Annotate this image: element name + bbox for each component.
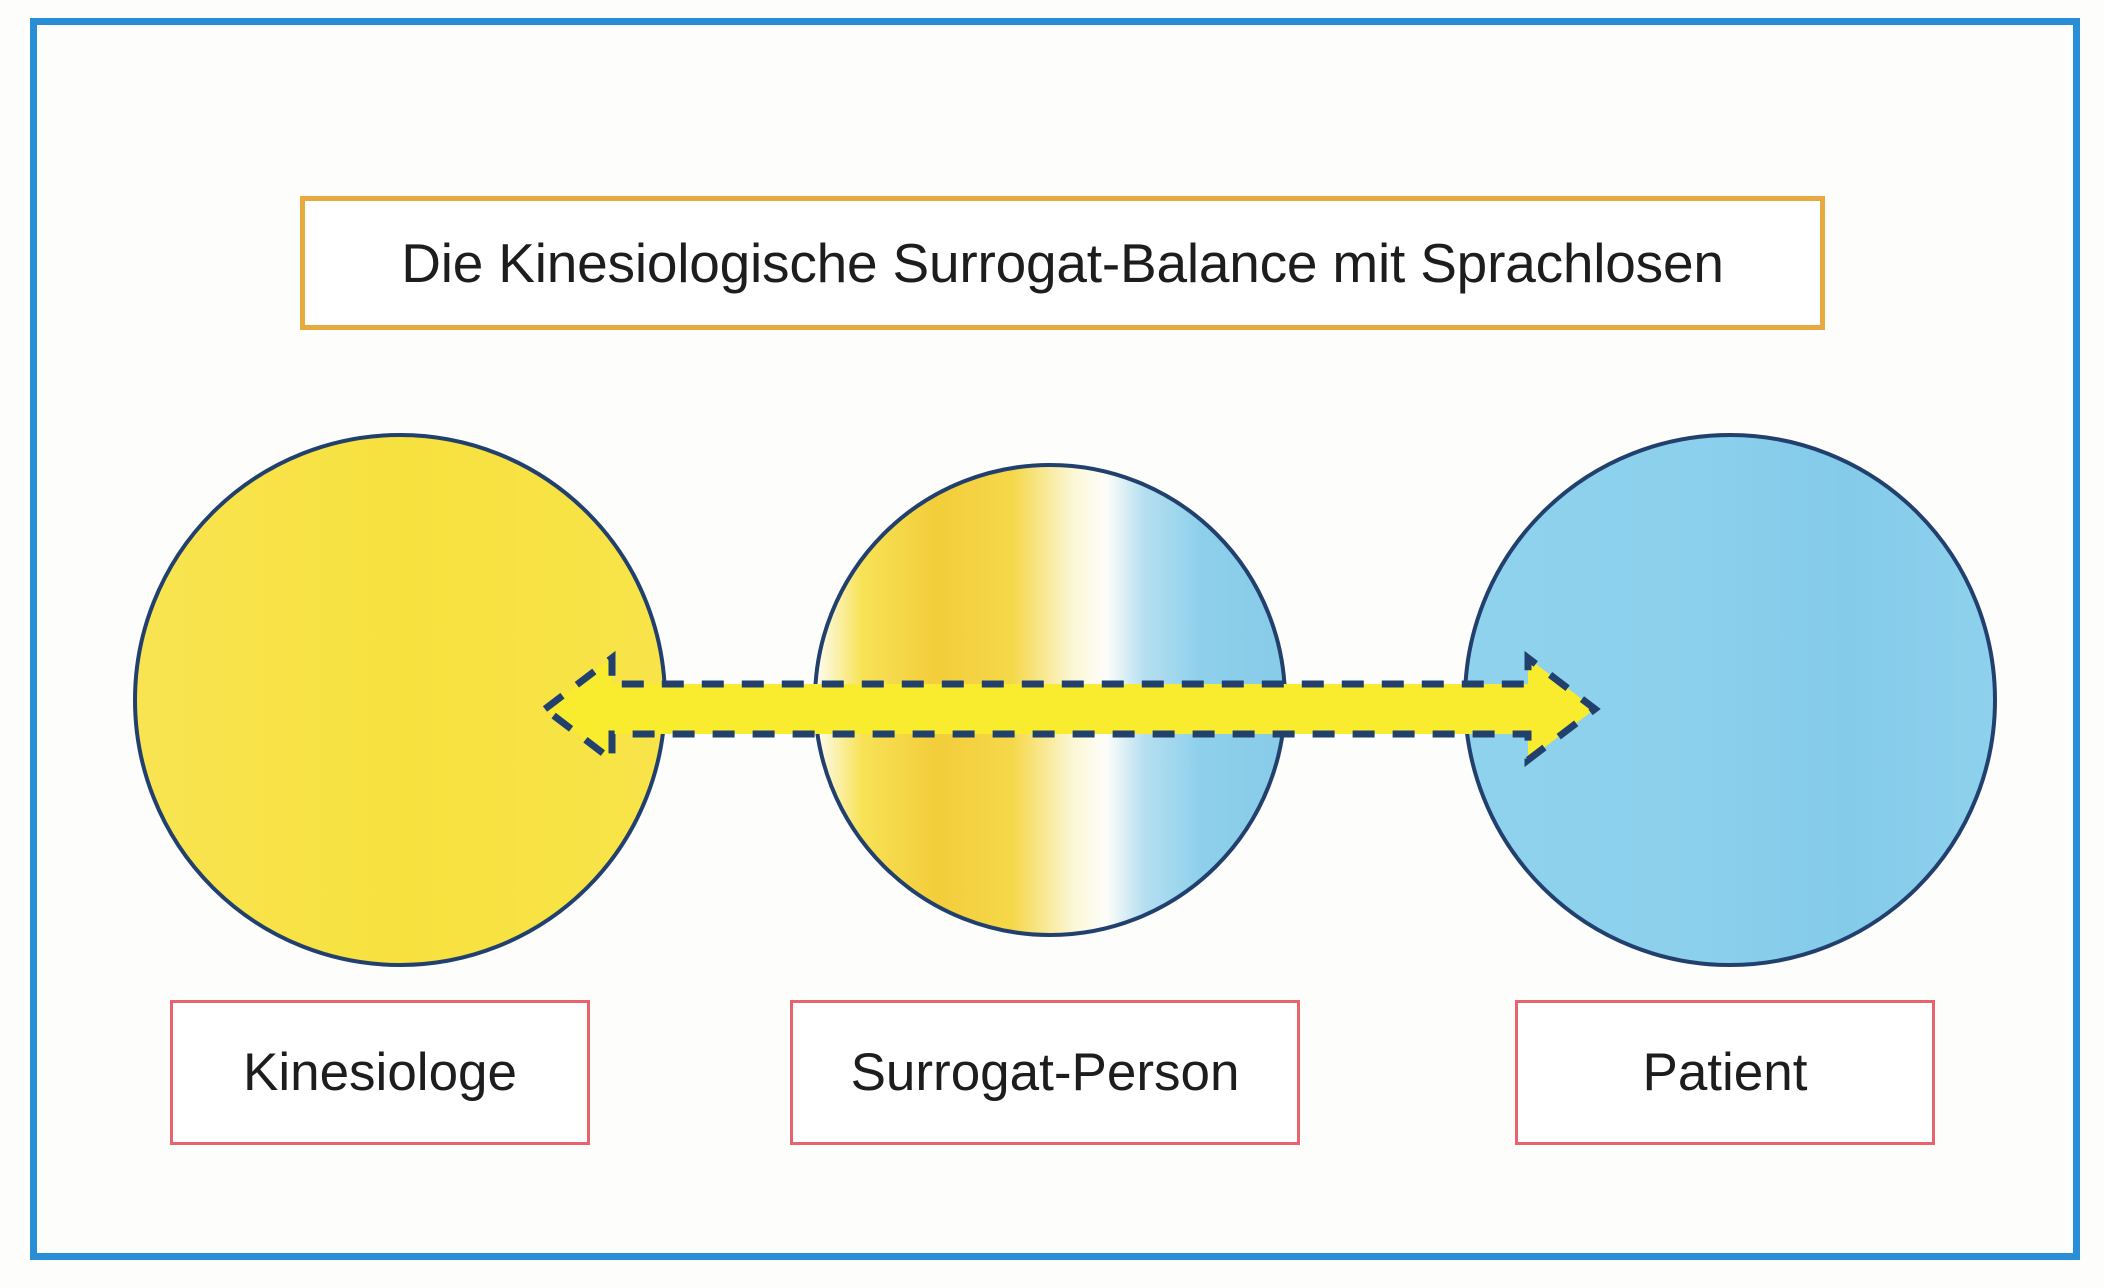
title-banner: Die Kinesiologische Surrogat-Balance mit…	[300, 196, 1825, 330]
label-box-surrogat-person: Surrogat-Person	[790, 1000, 1300, 1145]
label-box-patient: Patient	[1515, 1000, 1935, 1145]
label-text-surrogat-person: Surrogat-Person	[851, 1042, 1240, 1103]
label-box-kinesiologe: Kinesiologe	[170, 1000, 590, 1145]
diagram-canvas: Die Kinesiologische Surrogat-Balance mit…	[0, 0, 2104, 1288]
label-text-patient: Patient	[1642, 1042, 1807, 1103]
label-text-kinesiologe: Kinesiologe	[243, 1042, 517, 1103]
page-title: Die Kinesiologische Surrogat-Balance mit…	[401, 231, 1724, 295]
